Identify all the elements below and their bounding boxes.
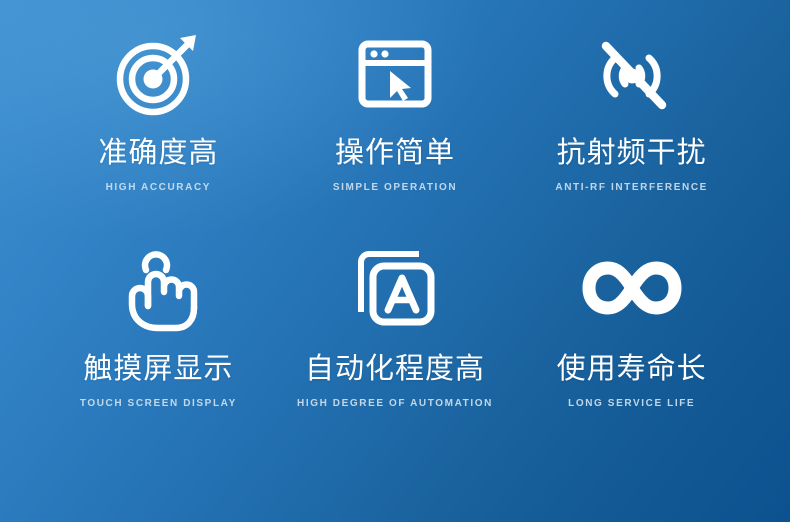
feature-title-en: TOUCH SCREEN DISPLAY	[80, 398, 237, 409]
automation-a-card-icon	[347, 238, 443, 338]
feature-card-simple-operation: 操作简单 SIMPLE OPERATION	[277, 22, 514, 238]
feature-highlights-banner: 准确度高 HIGH ACCURACY 操作简单 SIMPLE OPERATION	[0, 0, 790, 522]
infinity-icon	[577, 238, 687, 338]
feature-title-cn: 抗射频干扰	[557, 136, 707, 169]
feature-grid: 准确度高 HIGH ACCURACY 操作简单 SIMPLE OPERATION	[0, 0, 790, 522]
feature-card-high-accuracy: 准确度高 HIGH ACCURACY	[40, 22, 277, 238]
feature-title-cn: 准确度高	[98, 136, 218, 169]
feature-card-touch-screen-display: 触摸屏显示 TOUCH SCREEN DISPLAY	[40, 238, 277, 454]
feature-card-anti-rf-interference: 抗射频干扰 ANTI-RF INTERFERENCE	[513, 22, 750, 238]
feature-title-cn: 操作简单	[335, 136, 455, 169]
touch-hand-icon	[110, 238, 206, 338]
feature-title-en: SIMPLE OPERATION	[333, 182, 457, 193]
bottom-spacer	[40, 454, 750, 522]
feature-title-en: HIGH DEGREE OF AUTOMATION	[297, 398, 493, 409]
feature-title-en: LONG SERVICE LIFE	[568, 398, 695, 409]
feature-card-long-service-life: 使用寿命长 LONG SERVICE LIFE	[513, 238, 750, 454]
signal-off-icon	[584, 22, 680, 126]
browser-window-cursor-icon	[347, 22, 443, 126]
target-arrow-icon	[110, 22, 206, 126]
feature-title-cn: 自动化程度高	[305, 352, 485, 385]
feature-title-en: ANTI-RF INTERFERENCE	[555, 182, 708, 193]
feature-title-cn: 使用寿命长	[557, 352, 707, 385]
feature-title-cn: 触摸屏显示	[83, 352, 233, 385]
feature-card-high-automation: 自动化程度高 HIGH DEGREE OF AUTOMATION	[277, 238, 514, 454]
feature-title-en: HIGH ACCURACY	[106, 182, 211, 193]
